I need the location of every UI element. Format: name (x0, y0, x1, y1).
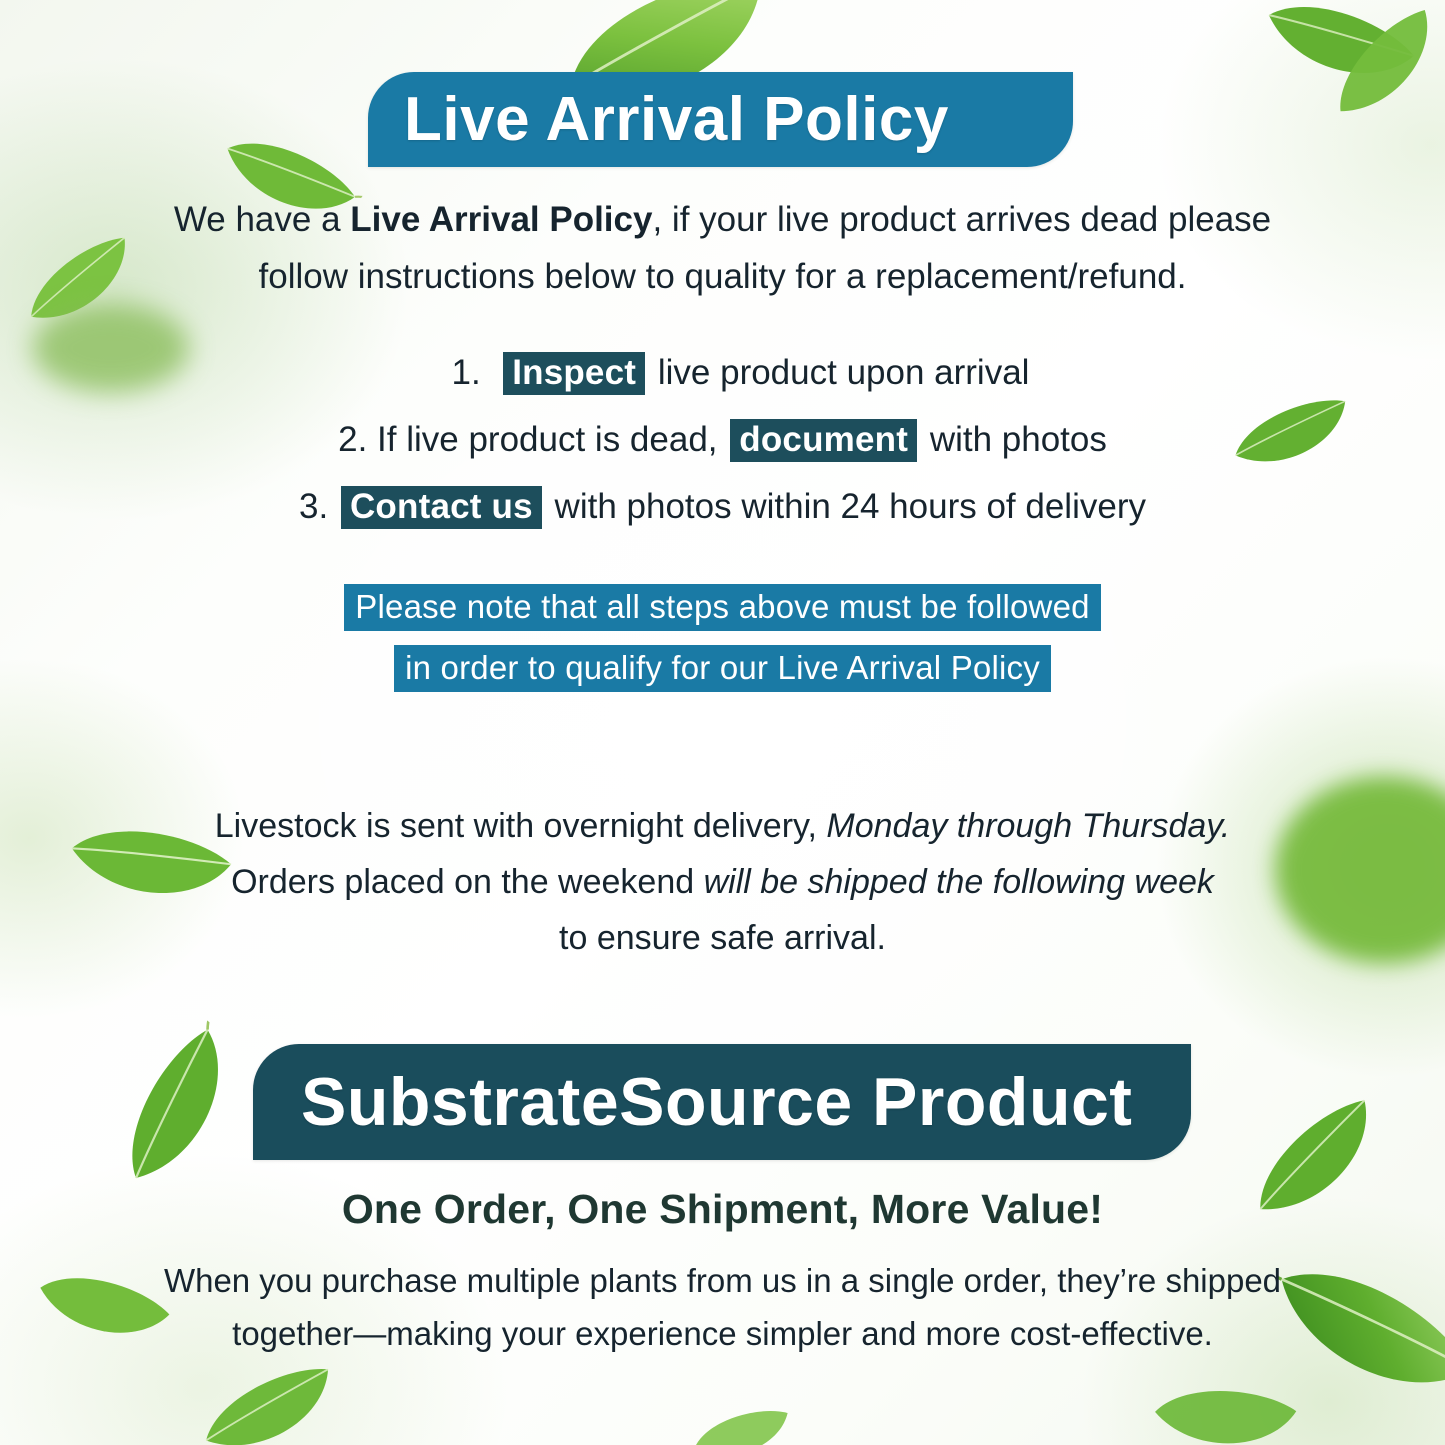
intro-bold-policy: Live Arrival Policy (350, 200, 652, 239)
note-line-2: in order to qualify for our Live Arrival… (394, 645, 1051, 692)
live-arrival-policy-banner: Live Arrival Policy (368, 72, 1073, 167)
step-chip-document: document (730, 419, 917, 462)
step-number: 3. (299, 487, 328, 526)
step-chip-inspect: Inspect (503, 352, 645, 395)
policy-steps-list: 1. Inspect live product upon arrival 2. … (150, 352, 1295, 553)
step-number: 2. (338, 420, 367, 459)
value-proposition-heading: One Order, One Shipment, More Value! (160, 1186, 1285, 1233)
step-text: with photos within 24 hours of delivery (555, 487, 1146, 526)
shipping-line1-plain: Livestock is sent with overnight deliver… (215, 807, 827, 845)
note-row: in order to qualify for our Live Arrival… (150, 645, 1295, 692)
shipping-line3-plain: to ensure safe arrival. (559, 919, 886, 957)
step-number: 1. (452, 353, 481, 392)
intro-paragraph: We have a Live Arrival Policy, if your l… (150, 192, 1295, 305)
list-item: 2. If live product is dead, document wit… (150, 419, 1295, 462)
step-text: with photos (930, 420, 1107, 459)
value-proposition-paragraph: When you purchase multiple plants from u… (160, 1255, 1285, 1361)
shipping-line1-italic: Monday through Thursday. (826, 807, 1230, 845)
intro-prefix: We have a (174, 200, 350, 239)
list-item: 1. Inspect live product upon arrival (150, 352, 1295, 395)
step-text-before: If live product is dead, (377, 420, 717, 459)
step-text: live product upon arrival (658, 353, 1030, 392)
shipping-line2-italic: will be shipped the following week (704, 863, 1214, 901)
note-row: Please note that all steps above must be… (150, 584, 1295, 631)
policy-note-block: Please note that all steps above must be… (150, 584, 1295, 706)
page-content: Live Arrival Policy We have a Live Arriv… (0, 0, 1445, 1445)
list-item: 3. Contact us with photos within 24 hour… (150, 486, 1295, 529)
shipping-line2-plain: Orders placed on the weekend (231, 863, 704, 901)
substrate-source-product-banner: SubstrateSource Product (253, 1044, 1191, 1160)
shipping-schedule-paragraph: Livestock is sent with overnight deliver… (180, 798, 1265, 966)
note-line-1: Please note that all steps above must be… (344, 584, 1100, 631)
section-title: SubstrateSource Product (301, 1068, 1132, 1136)
step-chip-contact-us[interactable]: Contact us (341, 486, 542, 529)
page-title: Live Arrival Policy (404, 89, 949, 151)
